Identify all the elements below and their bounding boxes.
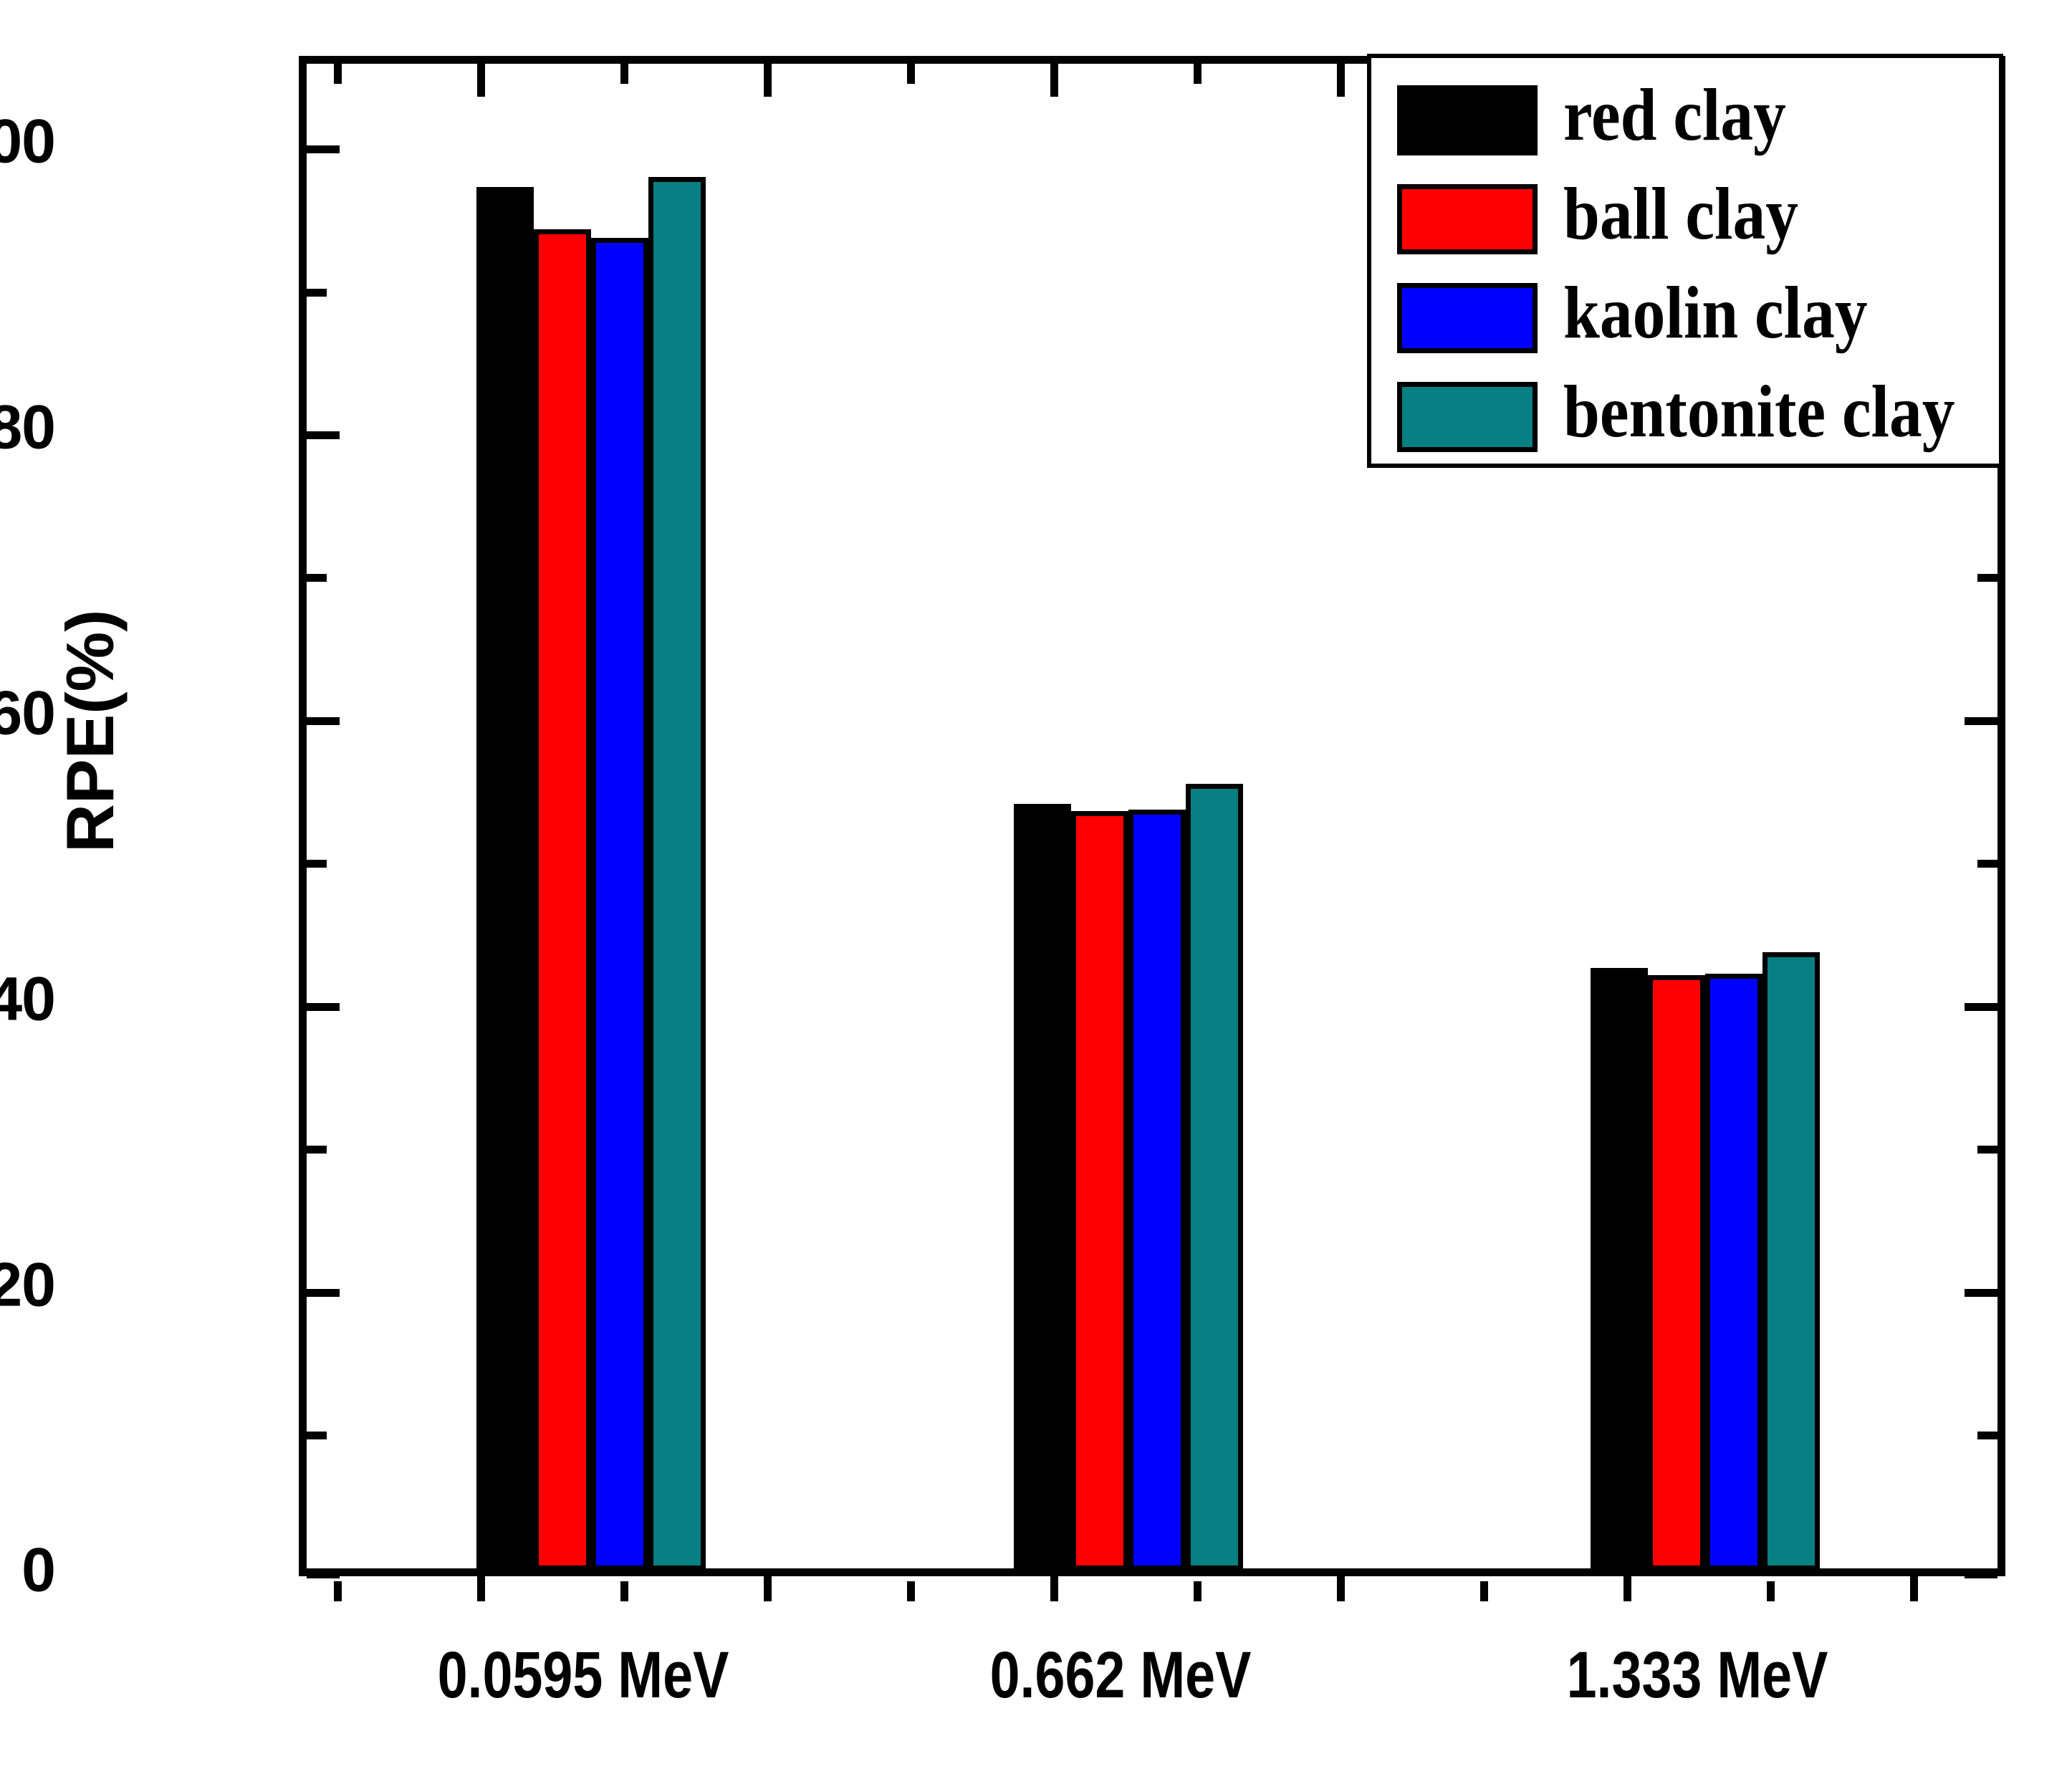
bar-red-clay-0-0595-MeV bbox=[476, 187, 534, 1571]
y-tick-major-right bbox=[1965, 1571, 1997, 1578]
y-axis-title: RPE(%) bbox=[52, 610, 129, 853]
bar-kaolin-clay-0-0595-MeV bbox=[591, 238, 648, 1571]
y-tick-label: 100 bbox=[0, 107, 55, 178]
y-tick-major bbox=[307, 1571, 340, 1578]
legend-swatch-ball-clay bbox=[1397, 184, 1538, 254]
bar-bentonite-clay-1-333-MeV bbox=[1762, 952, 1820, 1571]
bar-ball-clay-0-662-MeV bbox=[1071, 811, 1128, 1571]
x-tick-minor bbox=[907, 1581, 915, 1601]
x-tick-major bbox=[477, 1568, 485, 1601]
legend-label: ball clay bbox=[1563, 171, 1798, 256]
y-tick-label: 20 bbox=[0, 1250, 55, 1321]
plot-area: red clay ball clay kaolin clay bentonite… bbox=[299, 56, 2005, 1576]
bar-ball-clay-0-0595-MeV bbox=[534, 229, 591, 1571]
bar-chart-figure: RPE(%) 100 80 60 40 20 0 0.0595 MeV 0.66… bbox=[0, 0, 2072, 1774]
x-tick-major bbox=[1337, 1568, 1345, 1601]
y-tick-label: 0 bbox=[21, 1535, 55, 1606]
legend-swatch-kaolin-clay bbox=[1397, 283, 1538, 353]
chart-legend: red clay ball clay kaolin clay bentonite… bbox=[1367, 54, 2003, 468]
legend-label: kaolin clay bbox=[1563, 270, 1868, 355]
x-tick-major bbox=[1050, 1568, 1058, 1601]
legend-label: bentonite clay bbox=[1563, 369, 1955, 454]
legend-label: red clay bbox=[1563, 72, 1786, 158]
bar-bentonite-clay-0-662-MeV bbox=[1186, 784, 1243, 1571]
x-tick-minor bbox=[1767, 1581, 1775, 1601]
legend-swatch-bentonite-clay bbox=[1397, 382, 1538, 452]
legend-swatch-red-clay bbox=[1397, 85, 1538, 155]
x-tick-major bbox=[1910, 1568, 1918, 1601]
bar-red-clay-1-333-MeV bbox=[1591, 968, 1648, 1571]
x-tick-label: 0.662 MeV bbox=[990, 1638, 1252, 1713]
y-tick-label: 80 bbox=[0, 393, 55, 464]
bar-ball-clay-1-333-MeV bbox=[1648, 975, 1705, 1571]
bar-kaolin-clay-1-333-MeV bbox=[1705, 974, 1762, 1571]
x-tick-label: 1.333 MeV bbox=[1567, 1638, 1828, 1713]
x-tick-major bbox=[1623, 1568, 1631, 1601]
x-tick-major bbox=[764, 1568, 772, 1601]
bar-kaolin-clay-0-662-MeV bbox=[1128, 810, 1186, 1571]
y-tick-label: 60 bbox=[0, 679, 55, 749]
x-tick-minor bbox=[620, 1581, 628, 1601]
x-tick-minor bbox=[334, 1581, 342, 1601]
bar-red-clay-0-662-MeV bbox=[1014, 804, 1071, 1571]
x-tick-label: 0.0595 MeV bbox=[438, 1638, 729, 1713]
x-tick-minor bbox=[1194, 1581, 1202, 1601]
y-tick-label: 40 bbox=[0, 964, 55, 1035]
bar-bentonite-clay-0-0595-MeV bbox=[648, 177, 706, 1571]
x-tick-minor bbox=[1480, 1581, 1488, 1601]
